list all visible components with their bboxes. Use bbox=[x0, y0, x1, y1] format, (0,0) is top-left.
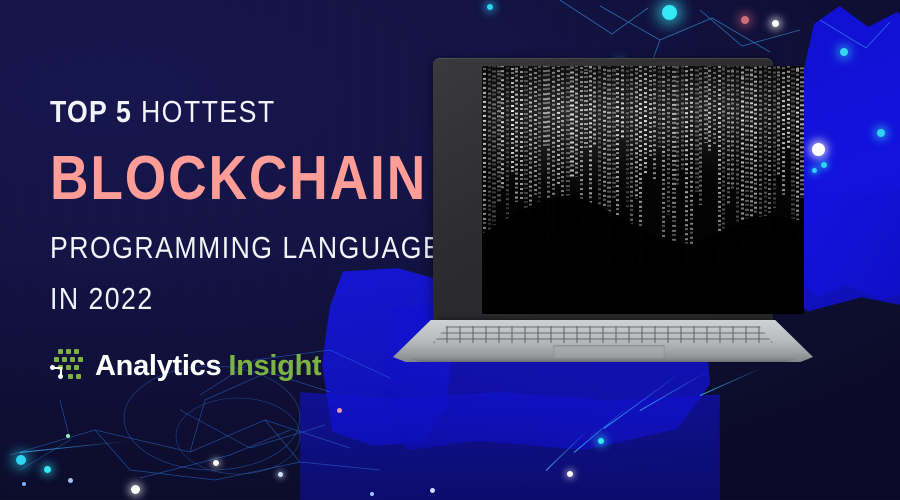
glow-node bbox=[567, 471, 573, 477]
binary-rain-column bbox=[708, 66, 711, 151]
glow-node bbox=[16, 455, 26, 465]
laptop-base-edge bbox=[399, 358, 807, 362]
glow-node bbox=[840, 48, 848, 56]
binary-rain-column bbox=[713, 66, 716, 147]
light-streak bbox=[574, 405, 631, 453]
binary-rain-column bbox=[570, 66, 574, 178]
brand-name-secondary: Insight bbox=[228, 350, 321, 382]
glow-node bbox=[22, 482, 26, 486]
glow-node bbox=[131, 485, 140, 494]
binary-rain-column bbox=[584, 66, 588, 149]
glow-node bbox=[598, 438, 604, 444]
glow-node bbox=[821, 162, 827, 168]
binary-rain-column bbox=[676, 66, 679, 186]
binary-rain-column bbox=[543, 66, 547, 146]
banner-canvas: TOP 5 HOTTEST BLOCKCHAIN PROGRAMMING LAN… bbox=[0, 0, 900, 500]
glow-node bbox=[68, 478, 73, 483]
binary-rain-column bbox=[644, 66, 647, 176]
light-streak bbox=[604, 372, 682, 429]
glow-node bbox=[812, 143, 825, 156]
binary-rain-column bbox=[593, 66, 596, 145]
glow-node bbox=[772, 20, 779, 27]
glow-node bbox=[44, 466, 51, 473]
binary-rain-column bbox=[731, 66, 734, 189]
brand-wordmark: AnalyticsInsight bbox=[95, 352, 321, 381]
headline-line-3: PROGRAMMING LANGUAGES bbox=[50, 232, 377, 263]
dot-grid-icon bbox=[50, 348, 84, 384]
binary-rain-column bbox=[695, 66, 699, 192]
binary-rain-column bbox=[681, 66, 684, 170]
light-streak bbox=[20, 441, 130, 453]
binary-rain-column bbox=[501, 66, 504, 190]
glow-node bbox=[877, 129, 885, 137]
light-streak bbox=[546, 428, 590, 470]
glow-node bbox=[741, 16, 749, 24]
glow-node bbox=[370, 492, 374, 496]
glow-node bbox=[66, 434, 70, 438]
glow-node bbox=[278, 472, 283, 477]
headline-hottest: HOTTEST bbox=[141, 94, 276, 129]
laptop-lid bbox=[433, 58, 773, 322]
binary-rain-column bbox=[557, 66, 560, 185]
brand-logo[interactable]: AnalyticsInsight bbox=[50, 348, 321, 384]
laptop-illustration bbox=[393, 58, 813, 358]
headline-line-4-year: IN 2022 bbox=[50, 283, 377, 314]
glow-node bbox=[213, 460, 219, 466]
headline-block: TOP 5 HOTTEST BLOCKCHAIN PROGRAMMING LAN… bbox=[50, 96, 430, 314]
brand-name-primary: Analytics bbox=[95, 350, 221, 382]
binary-rain-column bbox=[575, 66, 578, 177]
binary-rain-column bbox=[787, 66, 790, 149]
glow-node bbox=[430, 488, 435, 493]
glow-node bbox=[337, 408, 342, 413]
binary-rain-column bbox=[777, 66, 780, 176]
headline-line-1: TOP 5 HOTTEST bbox=[50, 96, 377, 127]
laptop-keyboard bbox=[433, 326, 773, 343]
headline-top5: TOP 5 bbox=[50, 94, 132, 129]
binary-rain-column bbox=[658, 66, 661, 147]
binary-rain-column bbox=[621, 66, 624, 139]
laptop-screen bbox=[482, 66, 804, 314]
binary-rain-column bbox=[649, 66, 652, 156]
mountain-silhouette bbox=[482, 175, 804, 314]
binary-rain-column bbox=[704, 66, 708, 143]
laptop-trackpad bbox=[553, 345, 665, 358]
binary-rain-column bbox=[511, 66, 514, 174]
headline-line-2-blockchain: BLOCKCHAIN bbox=[50, 148, 377, 210]
glow-node bbox=[662, 5, 677, 20]
glow-node bbox=[487, 4, 493, 10]
binary-rain-column bbox=[653, 66, 656, 179]
